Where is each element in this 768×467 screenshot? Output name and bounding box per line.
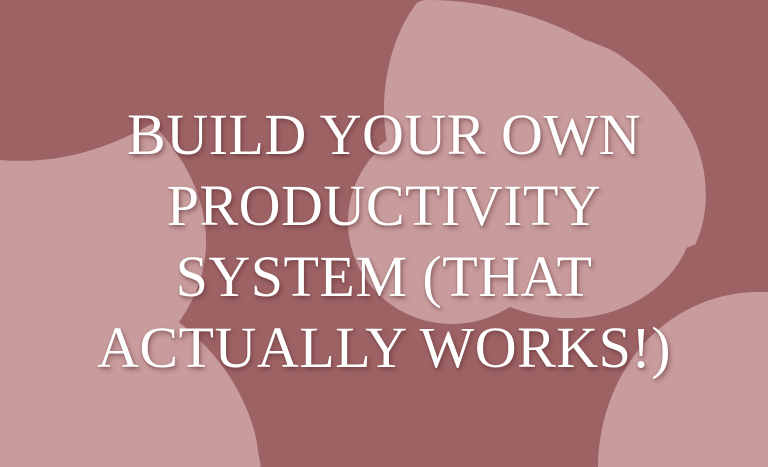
background-blob-illustration xyxy=(0,0,768,467)
title-graphic-card: BUILD YOUR OWN PRODUCTIVITY SYSTEM (THAT… xyxy=(0,0,768,467)
